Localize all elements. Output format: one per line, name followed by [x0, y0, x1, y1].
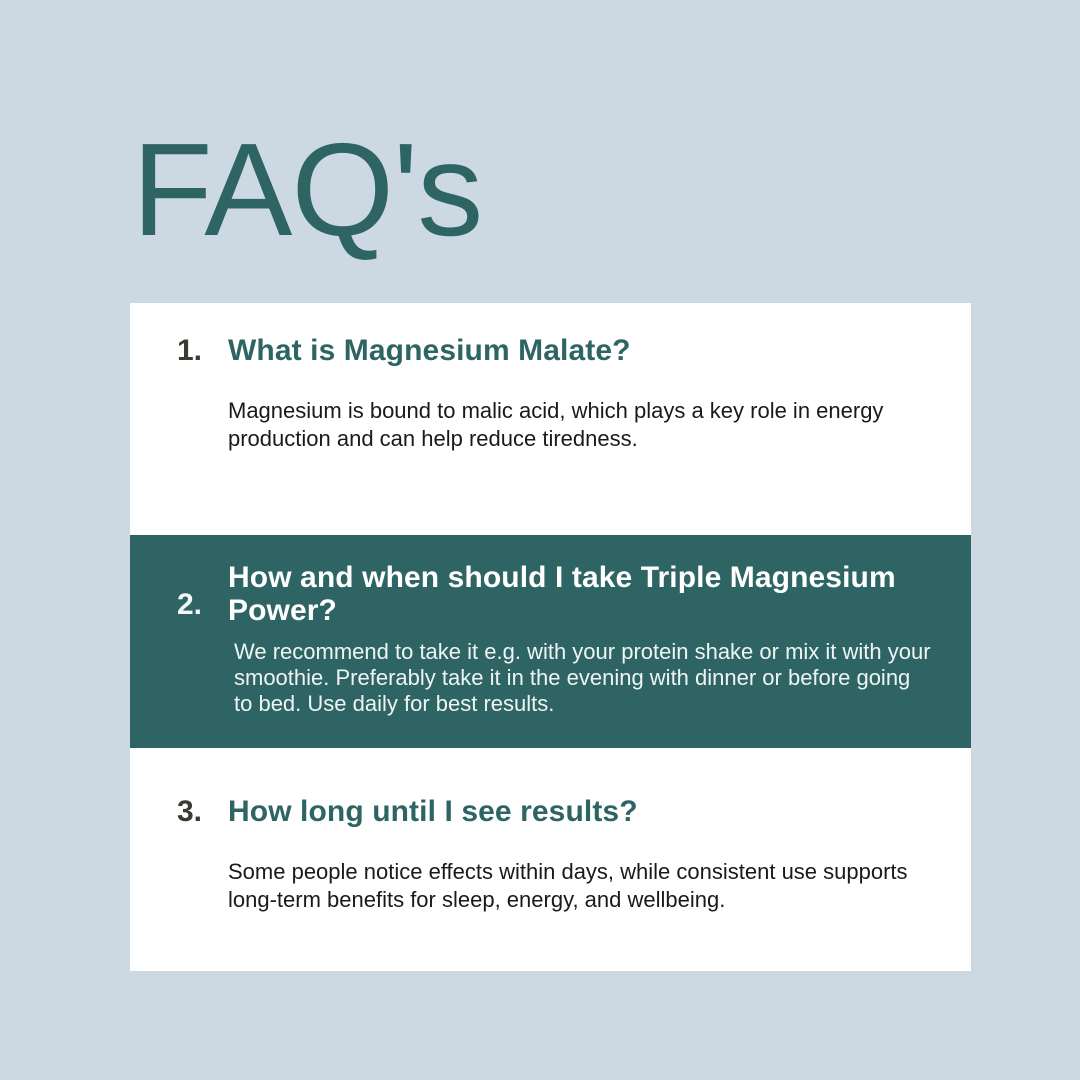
faq-item-number: 1.	[177, 333, 228, 369]
faq-item-number: 3.	[177, 794, 228, 830]
page-title: FAQ's	[132, 124, 482, 256]
faq-item-number: 2.	[177, 587, 228, 627]
faq-item-2[interactable]: 2. How and when should I take Triple Mag…	[130, 535, 971, 748]
faq-item-1[interactable]: 1. What is Magnesium Malate? Magnesium i…	[130, 303, 971, 535]
faq-question-text: What is Magnesium Malate?	[228, 333, 931, 369]
faq-answer-text: Magnesium is bound to malic acid, which …	[228, 397, 918, 453]
faq-question-row: 1. What is Magnesium Malate?	[177, 333, 931, 369]
faq-answer-text: We recommend to take it e.g. with your p…	[234, 639, 931, 717]
faq-answer-text: Some people notice effects within days, …	[228, 858, 918, 914]
faq-question-row: 2. How and when should I take Triple Mag…	[177, 561, 931, 627]
faq-question-text: How and when should I take Triple Magnes…	[228, 561, 931, 627]
faq-question-text: How long until I see results?	[228, 794, 931, 830]
faq-item-3[interactable]: 3. How long until I see results? Some pe…	[130, 748, 971, 971]
faq-page: FAQ's 1. What is Magnesium Malate? Magne…	[0, 0, 1080, 1080]
faq-question-row: 3. How long until I see results?	[177, 794, 931, 830]
faq-list: 1. What is Magnesium Malate? Magnesium i…	[130, 303, 971, 971]
